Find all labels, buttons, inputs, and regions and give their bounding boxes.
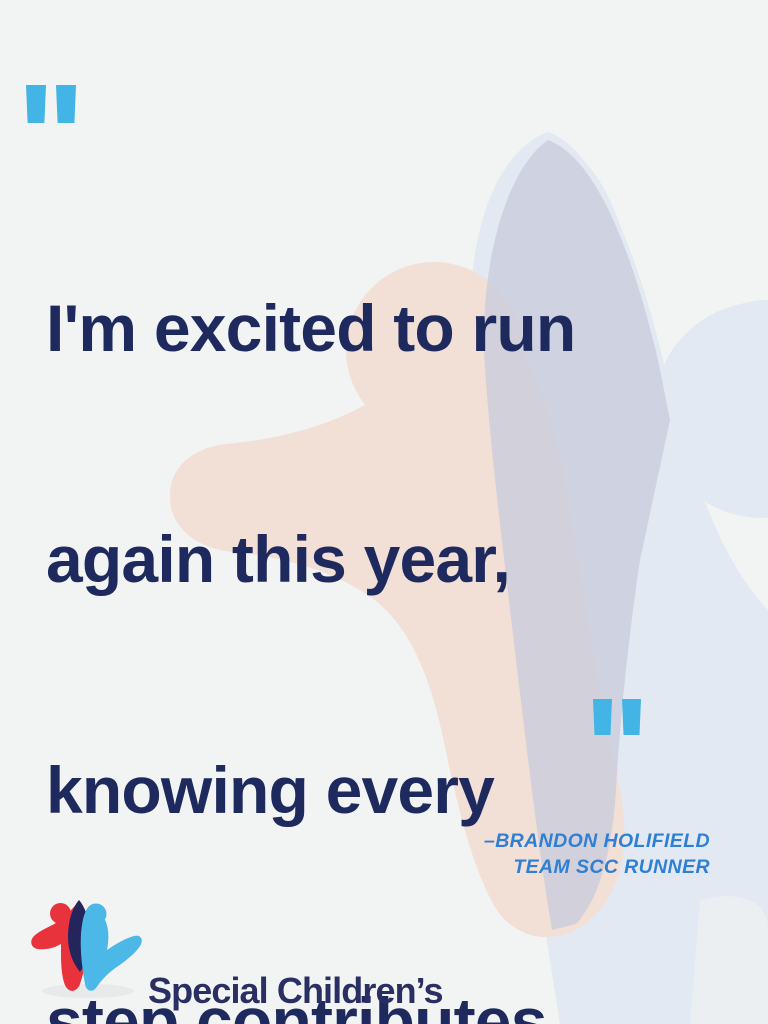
logo-lockup: Special Children’s Charities SINCE 1969 bbox=[30, 892, 443, 1024]
special-childrens-charities-logo-icon bbox=[30, 892, 142, 1000]
quote-bar-left bbox=[593, 699, 612, 735]
logo-lightblue-figure bbox=[81, 904, 142, 991]
attribution-role: TEAM SCC RUNNER bbox=[484, 854, 710, 880]
close-quote-mark-icon bbox=[593, 699, 641, 735]
quote-attribution: –BRANDON HOLIFIELD TEAM SCC RUNNER bbox=[484, 828, 710, 880]
logo-wordmark: Special Children’s Charities SINCE 1969 bbox=[148, 892, 443, 1024]
logo-name-line: Special Children’s bbox=[148, 973, 443, 1009]
attribution-name: –BRANDON HOLIFIELD bbox=[484, 828, 710, 854]
quote-line: I'm excited to run bbox=[46, 290, 726, 367]
quote-line: again this year, bbox=[46, 521, 726, 598]
open-quote-mark-icon bbox=[26, 85, 76, 123]
logo-name: Special Children’s Charities bbox=[148, 901, 443, 1024]
quote-text: I'm excited to run again this year, know… bbox=[46, 136, 726, 1024]
quote-bar-left bbox=[26, 85, 46, 123]
quote-bar-right bbox=[56, 85, 76, 123]
quote-bar-right bbox=[622, 699, 641, 735]
quote-poster: I'm excited to run again this year, know… bbox=[0, 0, 768, 1024]
quote-line: knowing every bbox=[46, 752, 726, 829]
